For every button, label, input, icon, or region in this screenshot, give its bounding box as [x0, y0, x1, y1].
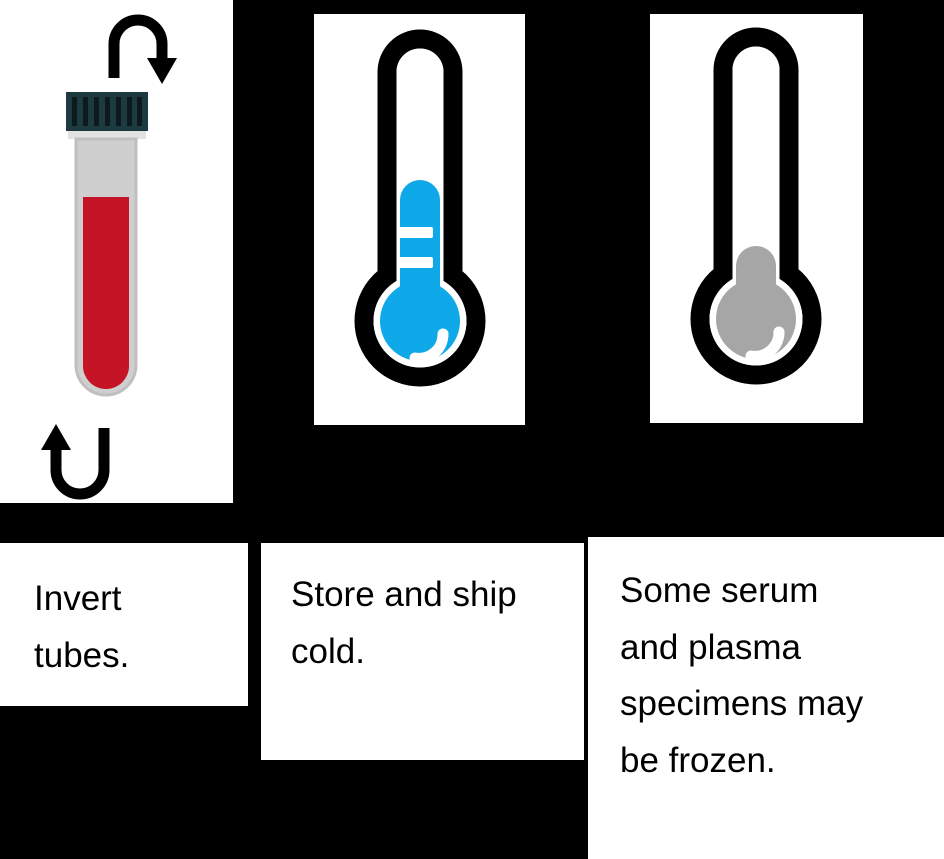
- caption-text-frozen: Some serum and plasma specimens may be f…: [588, 537, 944, 790]
- rotate-down-arrow-icon: [114, 20, 177, 84]
- figure-canvas: Invert tubes. Store and ship cold. Some …: [0, 0, 944, 859]
- caption-box-invert: Invert tubes.: [0, 543, 248, 706]
- tube-blood-fill: [83, 197, 129, 389]
- panel-frozen-specimens: [650, 14, 863, 423]
- rotate-up-arrow-icon: [41, 424, 104, 494]
- tube-cap: [66, 92, 148, 131]
- caption-box-frozen: Some serum and plasma specimens may be f…: [588, 537, 944, 859]
- caption-box-cold: Store and ship cold.: [261, 543, 584, 760]
- thermometer-cold-icon: [314, 14, 525, 425]
- blood-tube-icon: [0, 0, 233, 503]
- panel-invert-tubes: [0, 0, 233, 503]
- caption-text-invert: Invert tubes.: [0, 543, 248, 684]
- thermometer-frozen-icon: [650, 14, 863, 423]
- caption-text-cold: Store and ship cold.: [261, 543, 584, 680]
- panel-store-ship-cold: [314, 14, 525, 425]
